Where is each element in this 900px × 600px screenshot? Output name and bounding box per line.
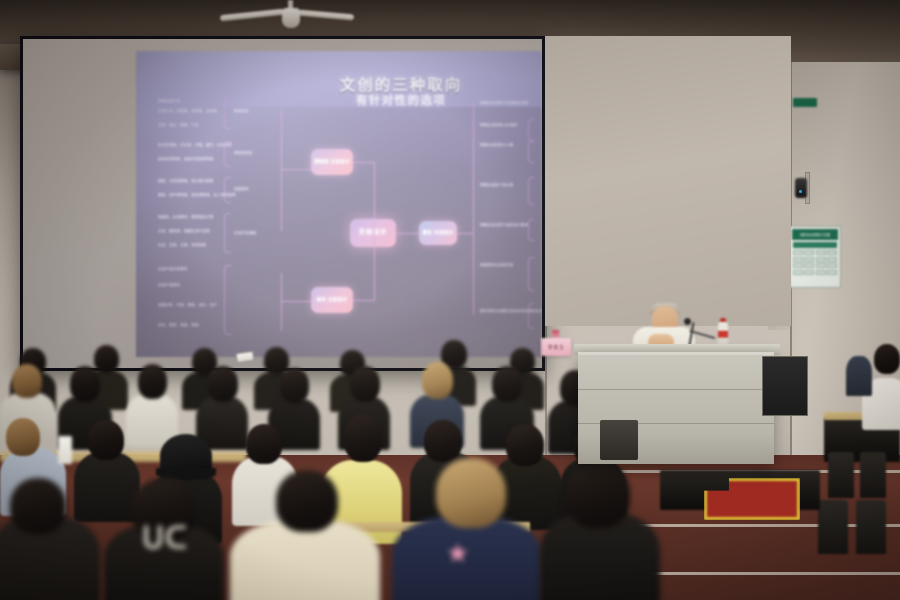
mindmap-leaf: 明确文创的受众人群 (480, 143, 513, 149)
poster-cell (804, 257, 814, 262)
audience-head (88, 420, 124, 460)
poster-cell (816, 263, 826, 268)
projection-screen: 文创的三种取向 有针对性的选项 彩陶文创产业 文化产业：内容类、创意类、运作类 … (20, 36, 545, 371)
mindmap-group-label: 陶瓷相关 (234, 109, 249, 115)
projected-slide: 文创的三种取向 有针对性的选项 彩陶文创产业 文化产业：内容类、创意类、运作类 … (136, 51, 542, 357)
desk-water-bottle (58, 436, 72, 464)
audience-head (344, 414, 382, 462)
audience-head (94, 345, 119, 373)
mindmap-brace (528, 257, 534, 291)
fan-hub (282, 8, 300, 28)
lecture-hall-photo: 消防安全疏散示意图 文创的三种取向 有针对性的选项 (0, 0, 900, 600)
podium-equipment-bay (762, 356, 808, 416)
audience-head (436, 458, 506, 528)
mindmap-brace (224, 213, 231, 253)
mindmap-leaf: 明确文化创意产品的设计要求 (480, 223, 528, 229)
poster-heading: 消防安全疏散示意图 (792, 229, 838, 240)
podium-cabinet (600, 420, 638, 460)
mindmap-leaf: 馆藏品、应用教材、博物馆设计等 (158, 215, 214, 221)
audience-head (12, 364, 42, 398)
chair-back (856, 500, 886, 554)
mindmap-leaf: 文化产业：内容类、创意类、运作类 (158, 109, 217, 115)
audience-head (280, 368, 309, 403)
poster-cell (804, 250, 814, 255)
mindmap-branch-node-museum: 博物馆 文创设计 (311, 149, 353, 175)
mindmap-leaf: 文创产品转化 (158, 283, 180, 289)
audience-head (246, 424, 282, 464)
wall-speaker-icon (795, 178, 807, 198)
audience-head (10, 478, 66, 534)
mindmap-branch-node-scenic: 景区 文创设计 (419, 221, 457, 245)
mindmap-leaf: 明确文创的核心价值观 (480, 123, 517, 129)
audience-head (424, 420, 462, 462)
mindmap-brace (224, 177, 231, 203)
audience-head (350, 366, 380, 402)
mindmap-brace (528, 219, 534, 241)
poster-subheading (793, 242, 837, 248)
chair-back (828, 452, 854, 498)
poster-cell (827, 250, 837, 255)
poster-cell (793, 257, 803, 262)
mindmap-brace (528, 119, 534, 141)
audience-person (230, 520, 380, 600)
poster-cell (804, 263, 814, 268)
mindmap-leaf: 国家级博物馆、省级市县级博物馆 (158, 157, 214, 163)
mindmap-connector (374, 162, 375, 300)
mindmap-connector (473, 103, 474, 315)
mindmap-leaf: 明确文创的产品分类 (480, 183, 513, 189)
ceiling-fan-icon (238, 0, 338, 30)
mindmap-central-node: 文创设计 (350, 219, 396, 247)
audience-head (70, 366, 100, 402)
mindmap-brace (528, 141, 534, 163)
mindmap-connector (281, 109, 282, 231)
chair-back (860, 452, 886, 498)
poster-cell (793, 270, 803, 275)
stage-wall (545, 36, 791, 326)
audience-head (138, 364, 167, 399)
mindmap-leaf: 我国现有文创的开发 (480, 263, 513, 269)
mindmap-brace (224, 97, 231, 129)
mindmap-brace (528, 303, 534, 329)
audience-head (566, 462, 630, 528)
audience-head (874, 344, 900, 374)
poster-cell (804, 270, 814, 275)
mindmap-connector (281, 169, 311, 170)
poster-cell (793, 250, 803, 255)
mindmap-leaf: 彩陶文创产业 (158, 99, 180, 105)
mindmap-connector (353, 300, 375, 301)
audience-head (6, 418, 40, 456)
audience-head (422, 362, 453, 399)
audience-head (492, 366, 522, 402)
screen-surface: 文创的三种取向 有针对性的选项 彩陶文创产业 文化产业：内容类、创意类、运作类 … (23, 39, 542, 368)
mindmap-leaf: 器物、大型博物馆、地方图书馆等 (158, 179, 214, 185)
floor-edge-strip (620, 572, 900, 575)
poster-grid (793, 250, 837, 275)
chair-back (818, 500, 848, 554)
mindmap-leaf: 文创：设计、制造、产业 (158, 123, 199, 129)
podium-seam (578, 389, 774, 390)
poster-cell (793, 263, 803, 268)
audience-head (506, 424, 544, 466)
shirt-star-logo: ★ (446, 540, 469, 566)
audience-person (74, 452, 140, 522)
mindmap-leaf: 文创产品开发条件 (158, 267, 188, 273)
microphone-icon (684, 318, 691, 325)
mindmap-connector (281, 273, 282, 331)
poster-cell (816, 250, 826, 255)
mindmap-leaf: 文创、藏品类、馆藏文创产品类 (158, 229, 210, 235)
mindmap-group-label: 博物馆类型 (234, 151, 253, 157)
mindmap-leaf: 明确文化创意产业的概念范围 (480, 101, 528, 107)
name-plate: 李金玉 (541, 338, 571, 356)
mindmap-leaf: 综合性博物、历史类、专题、藏书、纪念类等 (158, 143, 232, 149)
mindmap-brace (224, 265, 232, 335)
poster-cell (827, 270, 837, 275)
mindmap-connector (457, 233, 473, 234)
audience-person (846, 356, 872, 396)
safety-poster: 消防安全疏散示意图 (789, 226, 841, 288)
mindmap-brace (224, 141, 231, 167)
poster-cell (827, 263, 837, 268)
mindmap-connector (353, 162, 375, 163)
mindmap-connector (396, 233, 419, 234)
water-bottle (718, 322, 728, 346)
mindmap-leaf: 礼品、文具、文具、休闲品类 (158, 243, 206, 249)
audience-head (276, 470, 338, 532)
audience-head (208, 366, 238, 402)
mindmap-leaf: 定位、视觉、包装、体验 (158, 323, 199, 329)
poster-cell (816, 270, 826, 275)
mindmap-connector (281, 301, 311, 302)
mindmap-group-label: 文创开发通路 (234, 231, 256, 237)
mindmap-leaf: 资源分析、可研、策划、设计、生产 (158, 303, 217, 309)
mindmap-group-label: 馆藏重构 (234, 187, 249, 193)
poster-cell (827, 257, 837, 262)
jacket-letter-logo: ᑌᑕ (142, 524, 188, 554)
mindmap-branch-node-city: 城市 文创设计 (311, 287, 353, 313)
exit-sign-icon (793, 98, 817, 107)
speaker-led-icon (799, 190, 802, 193)
poster-cell (816, 257, 826, 262)
mindmap-brace (528, 177, 534, 205)
